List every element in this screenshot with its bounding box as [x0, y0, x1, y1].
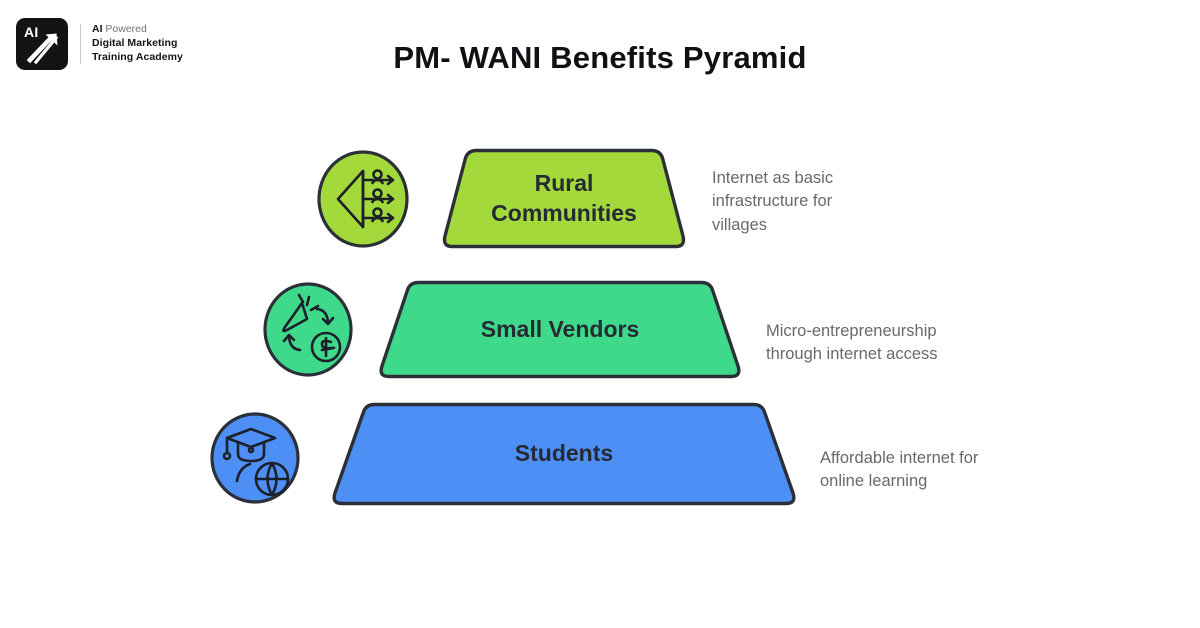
produce-for-money-exchange-icon: [262, 281, 354, 378]
tier-desc-line-3: villages: [712, 214, 912, 237]
tier-shape-rural-communities: [440, 148, 688, 249]
tier-shape-students: [328, 402, 800, 506]
tier-icon-small-vendors[interactable]: [262, 281, 354, 378]
tier-icon-rural-communities[interactable]: [316, 149, 410, 249]
tier-desc-line-2: infrastructure for: [712, 190, 912, 213]
tier-desc-line-1: Affordable internet for: [820, 447, 1035, 470]
tier-shape-small-vendors: [376, 280, 744, 379]
pyramid-tier-small-vendors[interactable]: Small Vendors: [376, 280, 744, 379]
tier-desc-line-2: online learning: [820, 470, 1035, 493]
tier-description-small-vendors: Micro-entrepreneurship through internet …: [766, 320, 996, 367]
tier-desc-line-2: through internet access: [766, 343, 996, 366]
graduate-globe-icon: [209, 411, 301, 505]
tier-desc-line-1: Internet as basic: [712, 167, 912, 190]
network-distribution-icon: [316, 149, 410, 249]
pyramid-tier-rural-communities[interactable]: Rural Communities: [440, 148, 688, 249]
tier-desc-line-1: Micro-entrepreneurship: [766, 320, 996, 343]
pyramid-tier-students[interactable]: Students: [328, 402, 800, 506]
tier-description-rural-communities: Internet as basic infrastructure for vil…: [712, 167, 912, 237]
pyramid-diagram: Rural Communities: [0, 0, 1200, 628]
tier-description-students: Affordable internet for online learning: [820, 447, 1035, 494]
tier-icon-students[interactable]: [209, 411, 301, 505]
